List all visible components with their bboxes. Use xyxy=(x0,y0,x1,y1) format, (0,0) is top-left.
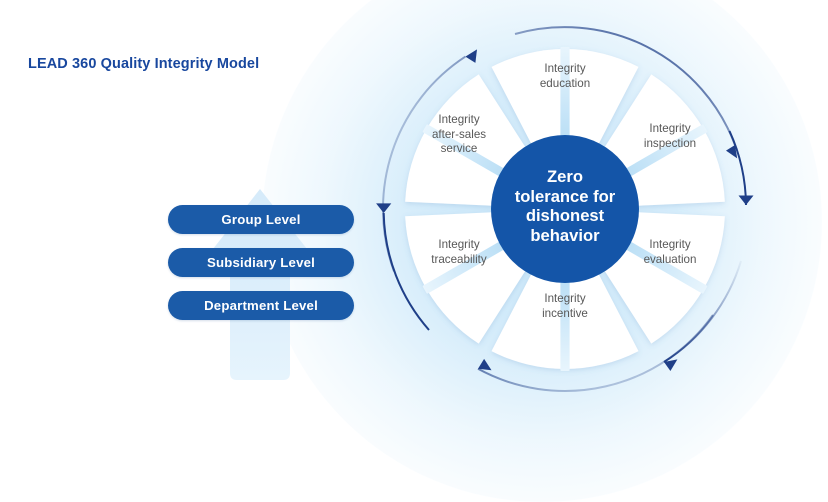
level-pill-subsidiary[interactable]: Subsidiary Level xyxy=(168,248,354,277)
page-title: LEAD 360 Quality Integrity Model xyxy=(28,56,259,72)
level-pill-group-label: Group Level xyxy=(221,212,300,227)
level-pill-group[interactable]: Group Level xyxy=(168,205,354,234)
levels-group: Group Level Subsidiary Level Department … xyxy=(150,175,370,390)
center-circle[interactable] xyxy=(491,135,639,283)
arrow-right-head xyxy=(739,196,754,206)
level-pill-department-label: Department Level xyxy=(204,298,318,313)
arrow-top-left-head xyxy=(465,49,477,63)
level-pill-subsidiary-label: Subsidiary Level xyxy=(207,255,315,270)
arrow-bottom-left-head xyxy=(478,359,492,370)
integrity-wheel: Integrity education Integrity inspection… xyxy=(372,16,758,402)
wheel-svg xyxy=(372,16,758,402)
arrow-left-head xyxy=(376,203,391,213)
arrow-right-arc xyxy=(730,131,747,205)
level-pill-department[interactable]: Department Level xyxy=(168,291,354,320)
infographic-canvas: LEAD 360 Quality Integrity Model Group L… xyxy=(0,0,828,427)
